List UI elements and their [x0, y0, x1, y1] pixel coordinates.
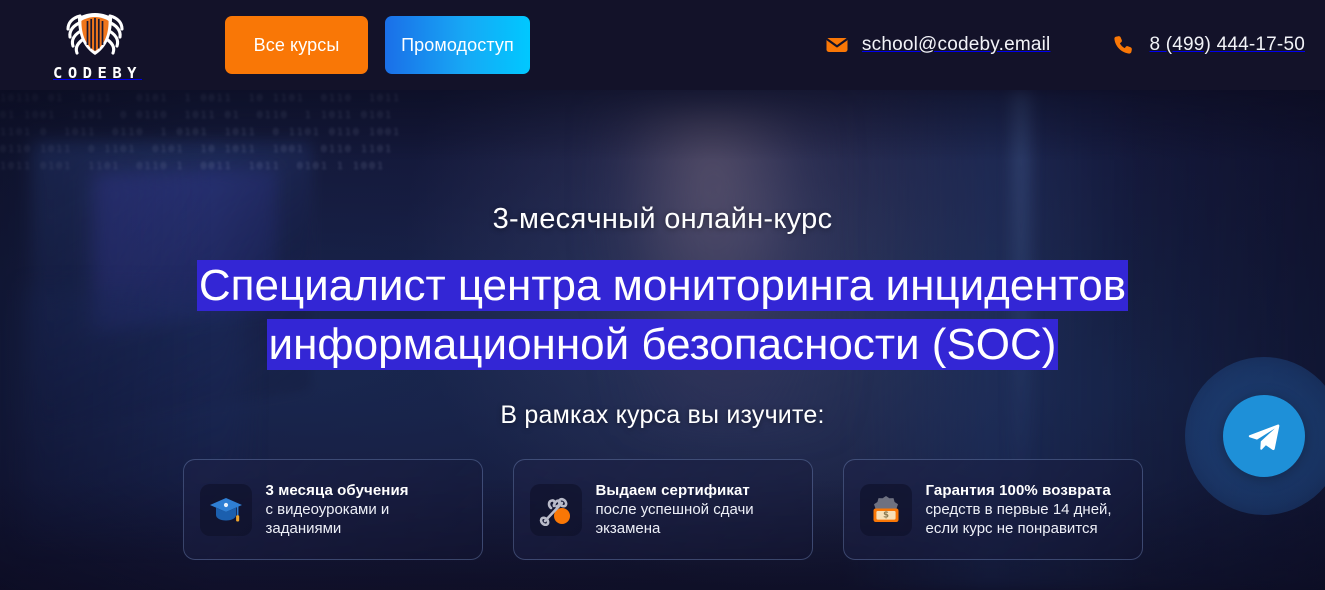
- hero-section: 10110 01 1011 0101 1 0011 10 1101 0110 1…: [0, 90, 1325, 590]
- site-header: CODEBY Все курсы Промодоступ school@code…: [0, 0, 1325, 90]
- phone-text: 8 (499) 444-17-50: [1149, 34, 1305, 56]
- logo-wordmark: CODEBY: [48, 66, 142, 82]
- svg-text:$: $: [883, 509, 889, 519]
- headline-line-2: информационной безопасности (SOC): [267, 319, 1059, 370]
- all-courses-button[interactable]: Все курсы: [225, 16, 368, 74]
- codeby-spider-logo-icon: [60, 9, 130, 63]
- card-description: после успешной сдачи экзамена: [596, 500, 798, 538]
- telegram-chat-button[interactable]: [1223, 395, 1305, 477]
- certificate-scroll-icon: [530, 484, 582, 536]
- card-title: Гарантия 100% возврата: [926, 481, 1128, 500]
- card-certificate[interactable]: Выдаем сертификат после успешной сдачи э…: [513, 459, 813, 560]
- email-text: school@codeby.email: [862, 34, 1051, 56]
- phone-contact[interactable]: 8 (499) 444-17-50: [1112, 33, 1305, 57]
- card-title: 3 месяца обучения: [266, 481, 468, 500]
- page-title: Специалист центра мониторинга инцидентов…: [93, 256, 1233, 374]
- hero-content: 3-месячный онлайн-курс Специалист центра…: [0, 90, 1325, 590]
- card-description: с видеоуроками и заданиями: [266, 500, 468, 538]
- hero-subhead: В рамках курса вы изучите:: [500, 401, 824, 430]
- card-duration[interactable]: 3 месяца обучения с видеоуроками и задан…: [183, 459, 483, 560]
- email-contact[interactable]: school@codeby.email: [825, 33, 1051, 57]
- phone-icon: [1112, 33, 1136, 57]
- card-refund-guarantee[interactable]: $ Гарантия 100% возврата средств в первы…: [843, 459, 1143, 560]
- money-back-icon: $: [860, 484, 912, 536]
- header-buttons: Все курсы Промодоступ: [225, 16, 530, 74]
- graduation-cap-icon: [200, 484, 252, 536]
- card-title: Выдаем сертификат: [596, 481, 798, 500]
- telegram-paper-plane-icon: [1244, 416, 1284, 456]
- page-root: CODEBY Все курсы Промодоступ school@code…: [0, 0, 1325, 590]
- headline-line-1: Специалист центра мониторинга инцидентов: [197, 260, 1128, 311]
- header-contacts: school@codeby.email 8 (499) 444-17-50: [825, 33, 1305, 57]
- card-description: средств в первые 14 дней, если курс не п…: [926, 500, 1128, 538]
- hero-eyebrow: 3-месячный онлайн-курс: [493, 203, 833, 236]
- promo-access-button[interactable]: Промодоступ: [385, 16, 530, 74]
- site-logo[interactable]: CODEBY: [0, 0, 190, 90]
- envelope-icon: [825, 33, 849, 57]
- feature-cards: 3 месяца обучения с видеоуроками и задан…: [183, 459, 1143, 560]
- telegram-floating-widget: [1185, 357, 1325, 515]
